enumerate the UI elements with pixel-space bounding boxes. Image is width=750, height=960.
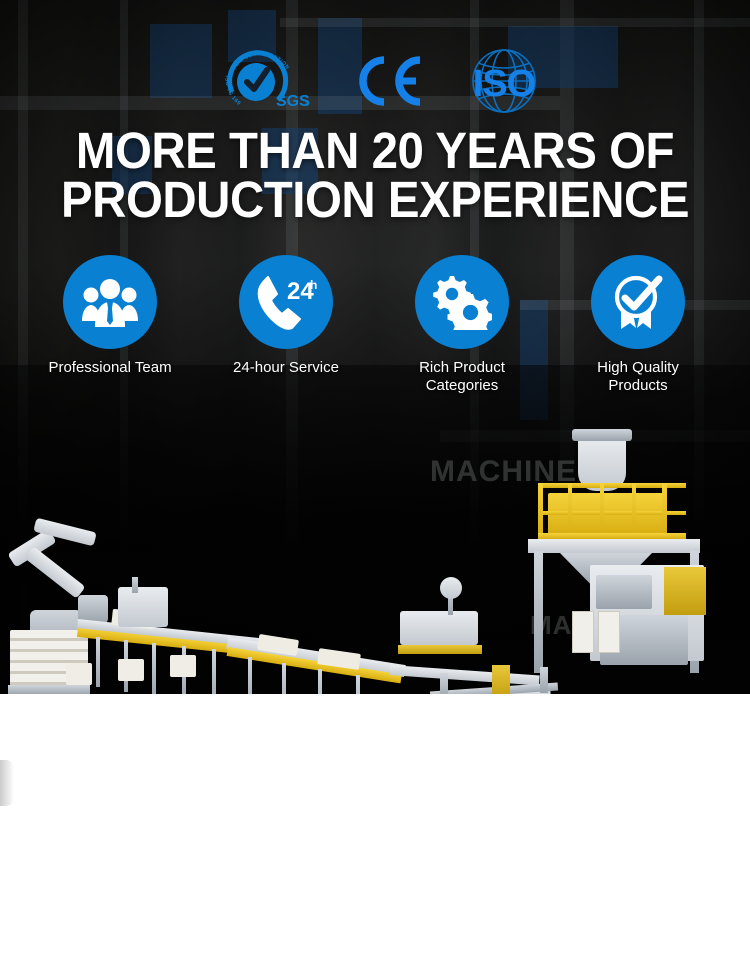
phone-24h-icon: 24 h: [255, 273, 317, 331]
feature-label-line1: 24-hour Service: [233, 359, 339, 376]
feature-label-line1: Professional Team: [48, 359, 171, 376]
sgs-certification-logo: SYSTEM CERTIFICATION ISO TS 16949 SGS ®: [220, 44, 310, 116]
feature-high-quality-products: High Quality Products: [550, 255, 726, 395]
feature-label: High Quality Products: [550, 359, 726, 395]
hero-banner: SYSTEM CERTIFICATION ISO TS 16949 SGS ®: [0, 0, 750, 695]
feature-label-line1: High Quality: [597, 359, 679, 376]
feature-professional-team: Professional Team: [22, 255, 198, 377]
page-body-whitespace: [0, 694, 750, 960]
badge-h: h: [310, 278, 317, 292]
svg-text:®: ®: [305, 101, 310, 108]
gears-icon: [432, 274, 492, 330]
people-group-icon: [81, 277, 139, 327]
left-edge-artifact: [0, 760, 14, 806]
feature-label-line2: Categories: [426, 377, 499, 394]
feature-list: Professional Team 24 h 24-hour Service: [0, 255, 750, 415]
page-root: SYSTEM CERTIFICATION ISO TS 16949 SGS ®: [0, 0, 750, 960]
feature-icon-circle: [415, 255, 509, 349]
feature-label-line2: Products: [608, 377, 667, 394]
feature-24-hour-service: 24 h 24-hour Service: [198, 255, 374, 377]
feature-label-line1: Rich Product: [419, 359, 505, 376]
ce-marking-logo: [350, 54, 428, 108]
feature-icon-circle: 24 h: [239, 255, 333, 349]
feature-icon-circle: [63, 255, 157, 349]
quality-badge-icon: [609, 273, 667, 331]
feature-icon-circle: [591, 255, 685, 349]
svg-text:ISO: ISO: [473, 63, 535, 105]
feature-label: Rich Product Categories: [374, 359, 550, 395]
iso-certification-logo: ISO: [462, 46, 546, 116]
hero-headline: MORE THAN 20 YEARS OF PRODUCTION EXPERIE…: [26, 126, 724, 224]
headline-line-2: PRODUCTION EXPERIENCE: [26, 175, 724, 224]
feature-rich-product-categories: Rich Product Categories: [374, 255, 550, 395]
certification-logos: SYSTEM CERTIFICATION ISO TS 16949 SGS ®: [0, 44, 750, 120]
feature-label: 24-hour Service: [198, 359, 374, 377]
feature-label: Professional Team: [22, 359, 198, 377]
